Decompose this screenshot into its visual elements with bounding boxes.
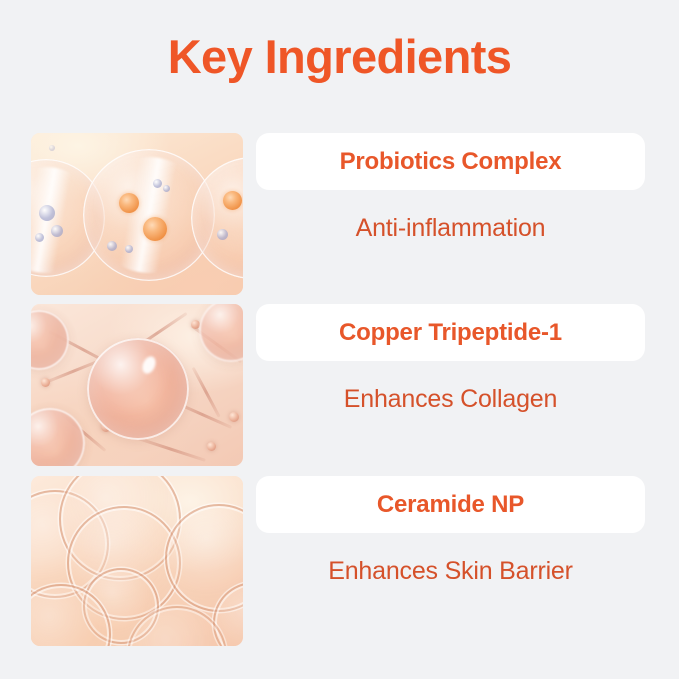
page-title: Key Ingredients: [0, 28, 679, 86]
ingredient-title-card: Ceramide NP: [256, 476, 645, 533]
ingredient-benefit: Anti-inflammation: [256, 203, 645, 253]
ingredient-image-probiotics-complex: [31, 133, 243, 295]
ingredient-image-ceramide-np: [31, 476, 243, 646]
ingredient-name: Copper Tripeptide-1: [339, 319, 562, 347]
ingredient-title-card: Probiotics Complex: [256, 133, 645, 190]
ingredient-row: Ceramide NP Enhances Skin Barrier: [0, 476, 679, 646]
ingredient-row: Probiotics Complex Anti-inflammation: [0, 133, 679, 295]
ingredient-title-card: Copper Tripeptide-1: [256, 304, 645, 361]
key-ingredients-infographic: Key Ingredients: [0, 0, 679, 679]
ingredient-benefit: Enhances Skin Barrier: [256, 546, 645, 596]
ingredient-name: Ceramide NP: [377, 491, 524, 519]
ingredient-benefit: Enhances Collagen: [256, 374, 645, 424]
ingredient-row: Copper Tripeptide-1 Enhances Collagen: [0, 304, 679, 466]
ingredient-image-copper-tripeptide-1: [31, 304, 243, 466]
ingredient-name: Probiotics Complex: [340, 148, 562, 176]
